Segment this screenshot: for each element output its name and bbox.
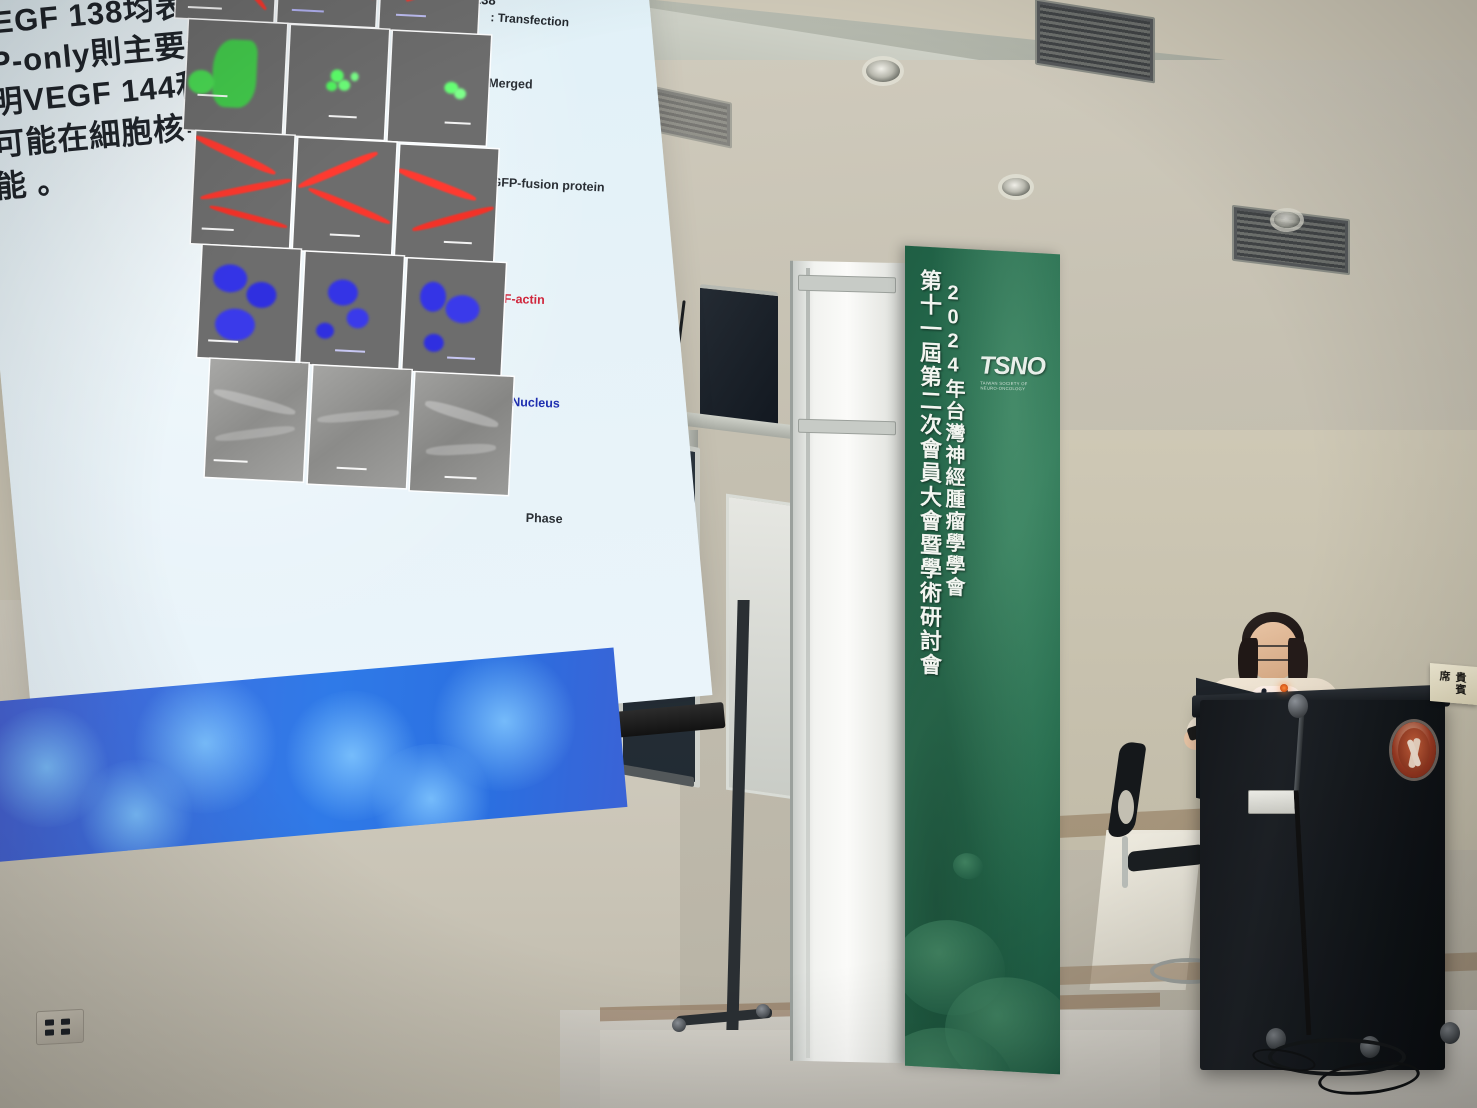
nucleus-signal (346, 308, 369, 329)
f-actin-signal (405, 0, 483, 4)
outlet-slot (61, 1028, 70, 1034)
recessed-spotlight-3 (1274, 212, 1300, 228)
row-label-merged: Merged (488, 76, 533, 91)
micrograph-cell (191, 131, 294, 248)
whiteboard-caster (756, 1004, 770, 1018)
nucleus-signal (327, 279, 358, 306)
micrograph-cell (410, 372, 514, 495)
slide-body-line-5: 能 。 (0, 163, 71, 206)
name-tent-text: 貴賓席 (1436, 669, 1468, 704)
scale-bar (202, 227, 234, 231)
phase-contrast-texture (426, 443, 496, 457)
micrograph-cell (277, 0, 381, 27)
phase-contrast-texture (213, 386, 297, 417)
gfp-puncta (326, 81, 337, 92)
scale-bar (444, 241, 472, 244)
chair-back-cutout (1118, 790, 1134, 824)
gfp-signal (188, 69, 215, 94)
scale-bar (445, 476, 477, 480)
gfp-puncta (350, 72, 358, 81)
f-actin-signal (209, 204, 288, 230)
f-actin-signal (307, 186, 391, 227)
micrograph-cell (184, 19, 287, 134)
podium-caster (1440, 1022, 1460, 1044)
outlet-slot (45, 1029, 54, 1035)
podium-name-plate (1248, 790, 1298, 814)
presentation-room-scene: EGF 138均表 P-only則主要分 明VEGF 144和 可能在細胞核中 … (0, 0, 1477, 1108)
micrograph-grid (173, 0, 534, 584)
nucleus-signal (213, 264, 248, 294)
banner-stand-bracket (798, 419, 896, 436)
micrograph-cell (197, 245, 300, 362)
nucleus-signal (445, 294, 480, 324)
whiteboard-caster (672, 1018, 686, 1032)
scale-bar (337, 467, 367, 470)
name-tent-card: 貴賓席 (1430, 663, 1477, 705)
wall-speaker-box (700, 284, 778, 426)
micrograph-cell (205, 359, 309, 482)
f-actin-signal (194, 133, 277, 177)
gfp-signal (211, 39, 258, 109)
f-actin-signal (218, 0, 268, 11)
phase-contrast-texture (215, 424, 295, 443)
scale-bar (396, 14, 426, 17)
banner-stand-seam (806, 268, 810, 1058)
f-actin-signal (396, 166, 477, 203)
nucleus-signal (246, 281, 277, 308)
scale-bar (335, 349, 365, 352)
vent-grill (1040, 4, 1150, 77)
micrograph-cell (379, 0, 483, 34)
micrograph-cell (388, 31, 491, 146)
banner-title-session-line: 第十一屆第二次會員大會暨學術研討會 (913, 268, 945, 1060)
gfp-puncta (454, 88, 467, 100)
f-actin-signal (297, 149, 379, 190)
f-actin-signal (412, 204, 495, 233)
micrograph-cell (395, 145, 498, 262)
logo-text: TSNO (979, 351, 1042, 381)
crest-inner (1398, 728, 1430, 772)
nucleus-signal (423, 333, 444, 352)
logo-subtext: TAIWAN SOCIETY OF NEURO-ONCOLOGY (980, 380, 1042, 391)
phase-contrast-texture (424, 398, 500, 430)
recessed-spotlight-2 (1002, 178, 1030, 196)
scale-bar (447, 357, 475, 360)
f-actin-signal (302, 0, 377, 2)
scale-bar (329, 115, 357, 118)
phase-contrast-texture (317, 408, 399, 424)
scale-bar (188, 6, 222, 10)
micrograph-cell (300, 252, 403, 369)
recessed-spotlight-1 (866, 60, 900, 82)
institution-crest-icon (1392, 722, 1436, 778)
society-logo: TSNO TAIWAN SOCIETY OF NEURO-ONCOLOGY (979, 351, 1043, 404)
scale-bar (445, 122, 471, 125)
micrograph-cell (293, 138, 396, 255)
micrograph-cell (286, 25, 389, 140)
banner-stand-bracket (798, 275, 896, 294)
nucleus-signal (214, 308, 256, 342)
nucleus-signal (419, 281, 446, 312)
microphone-indicator-light (1280, 684, 1288, 692)
wall-power-outlet (36, 1009, 84, 1046)
scale-bar (214, 459, 248, 463)
scale-bar (330, 234, 360, 237)
f-actin-signal (200, 177, 292, 202)
outlet-slot (45, 1019, 54, 1025)
screen-surface: EGF 138均表 P-only則主要分 明VEGF 144和 可能在細胞核中 … (0, 0, 712, 757)
nucleus-signal (316, 322, 335, 339)
outlet-slot (61, 1018, 70, 1024)
micrograph-cell (402, 258, 505, 375)
micrograph-cell (308, 365, 412, 488)
scale-bar (208, 339, 238, 342)
microphone-head (1288, 694, 1308, 718)
scale-bar (292, 9, 324, 13)
gfp-puncta (338, 79, 351, 91)
